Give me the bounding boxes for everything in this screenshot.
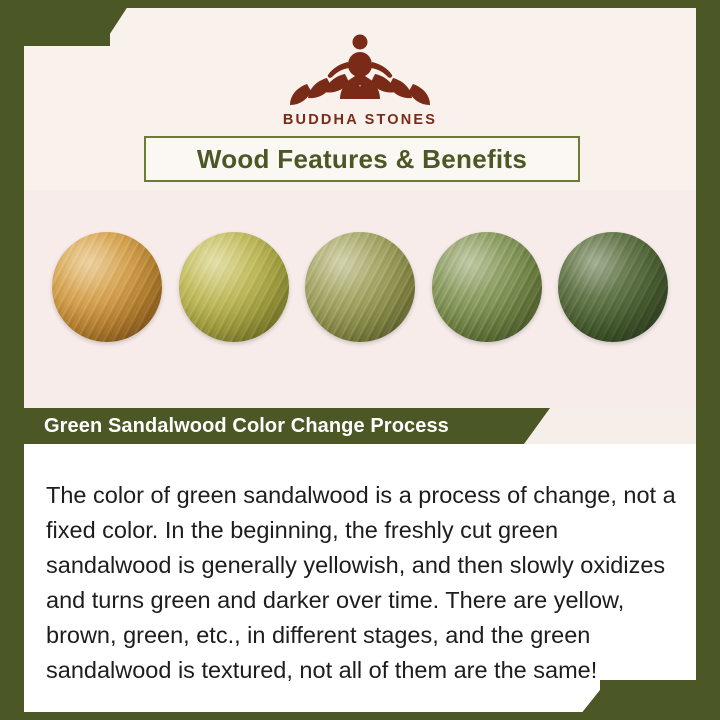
bead-stage-5 <box>558 232 668 342</box>
beads-section <box>24 190 696 408</box>
beads-row <box>24 232 696 342</box>
frame-corner-bottom-right-diagonal <box>576 680 608 720</box>
bead-stage-3 <box>305 232 415 342</box>
header-title-box: Wood Features & Benefits <box>144 136 580 182</box>
bead-stage-2 <box>179 232 289 342</box>
body-panel: The color of green sandalwood is a proce… <box>24 444 696 712</box>
section-label-bar: Green Sandalwood Color Change Process <box>24 408 524 444</box>
frame-corner-bottom-right <box>600 680 720 720</box>
frame-corner-top-left <box>0 0 110 46</box>
body-paragraph: The color of green sandalwood is a proce… <box>46 478 678 688</box>
section-label-text: Green Sandalwood Color Change Process <box>24 415 449 438</box>
brand-name: BUDDHA STONES <box>24 112 696 128</box>
frame-corner-top-left-diagonal <box>102 0 132 46</box>
bead-stage-4 <box>432 232 542 342</box>
buddha-lotus-icon <box>275 26 445 110</box>
section-label-notch <box>524 408 550 444</box>
frame-right <box>696 0 720 720</box>
poster-root: BUDDHA STONES Wood Features & Benefits G… <box>0 0 720 720</box>
page-title: Wood Features & Benefits <box>197 144 527 175</box>
bead-stage-1 <box>52 232 162 342</box>
content-card: BUDDHA STONES Wood Features & Benefits G… <box>24 8 696 712</box>
frame-left <box>0 0 24 720</box>
